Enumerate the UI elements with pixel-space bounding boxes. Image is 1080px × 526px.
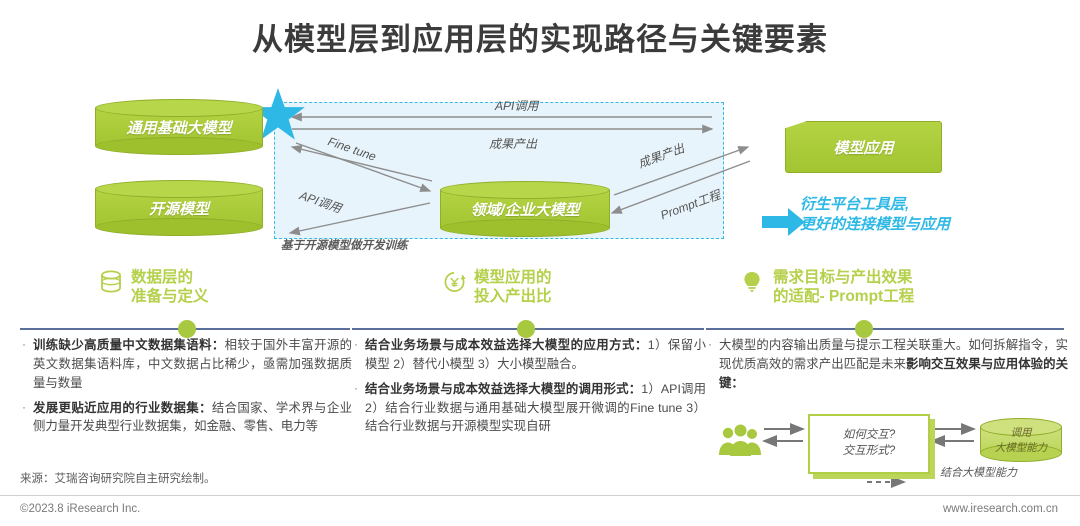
bullet-marker: · xyxy=(708,336,712,393)
list-item-text: 结合业务场景与成本效益选择大模型的应用方式：1）保留小模型 2）替代小模型 3）… xyxy=(365,336,706,374)
list-item-text: 训练缺少高质量中文数据集语料：相较于国外丰富开源的英文数据集语料库，中文数据占比… xyxy=(33,336,352,393)
bullet-marker: · xyxy=(22,336,26,393)
website-link[interactable]: www.iresearch.com.cn xyxy=(943,503,1058,515)
footer-divider xyxy=(0,495,1080,496)
list-item-bold: 训练缺少高质量中文数据集语料： xyxy=(33,338,225,352)
cylinder-open-source-model[interactable]: 开源模型 xyxy=(95,180,263,236)
column-header-data-layer: 数据层的 准备与定义 xyxy=(100,268,209,307)
list-item: · 结合业务场景与成本效益选择大模型的应用方式：1）保留小模型 2）替代小模型 … xyxy=(354,336,706,374)
lightbulb-icon xyxy=(742,270,764,294)
list-item: · 结合业务场景与成本效益选择大模型的调用形式：1）API调用 2）结合行业数据… xyxy=(354,380,706,437)
derive-line-2: 更好的连接模型与应用 xyxy=(800,215,1050,235)
bullet-marker: · xyxy=(354,336,358,374)
cylinder-open-source-model-label: 开源模型 xyxy=(95,180,263,236)
diagram-stage: 通用基础大模型 开源模型 领域/企业大模型 模型应用 衍生平台工具层, 更好的连… xyxy=(0,85,1080,265)
arrow-label-api-call-top: API调用 xyxy=(495,97,538,114)
column-header-cost-benefit: 模型应用的 投入产出比 xyxy=(443,268,552,307)
column-header-label: 数据层的 准备与定义 xyxy=(131,268,209,307)
arrow-label-result-output-top: 成果产出 xyxy=(489,135,537,152)
derive-line-1: 衍生平台工具层, xyxy=(800,195,1050,215)
list-item-bold: 结合业务场景与成本效益选择大模型的调用形式： xyxy=(365,382,641,396)
slide-page: 从模型层到应用层的实现路径与关键要素 xyxy=(0,0,1080,526)
separator-line xyxy=(706,328,1064,330)
question-line-1: 如何交互? xyxy=(843,428,895,444)
cylinder-domain-model-label: 领域/企业大模型 xyxy=(440,181,610,237)
list-item-text: 结合业务场景与成本效益选择大模型的调用形式：1）API调用 2）结合行业数据与通… xyxy=(365,380,706,437)
cylinder-model-capability-label: 调用 大模型能力 xyxy=(980,418,1062,462)
copyright-text: ©2023.8 iResearch Inc. xyxy=(20,503,140,515)
column-body-data-layer: · 训练缺少高质量中文数据集语料：相较于国外丰富开源的英文数据集语料库，中文数据… xyxy=(22,336,352,442)
list-item-text: 发展更贴近应用的行业数据集：结合国家、学术界与企业侧力量开发典型行业数据集，如金… xyxy=(33,399,352,437)
cylinder-base-model-label: 通用基础大模型 xyxy=(95,99,263,155)
interaction-mini-diagram: 如何交互? 交互形式? 调用 大模型能力 结合大模型能力 xyxy=(718,412,1068,484)
list-item-bold: 发展更贴近应用的行业数据集： xyxy=(33,401,212,415)
database-icon xyxy=(100,270,122,294)
diagram-note: 基于开源模型做开发训练 xyxy=(281,237,408,253)
cylinder-domain-model[interactable]: 领域/企业大模型 xyxy=(440,181,610,237)
list-item-text: 大模型的内容输出质量与提示工程关联重大。如何拆解指令，实现优质高效的需求产出匹配… xyxy=(719,336,1068,393)
cylinder-label-line-1: 调用 xyxy=(1011,425,1032,440)
cost-benefit-icon xyxy=(443,270,465,294)
source-note: 来源：艾瑞咨询研究院自主研究绘制。 xyxy=(20,470,216,486)
column-header-label: 需求目标与产出效果 的适配- Prompt工程 xyxy=(773,268,914,307)
column-header-prompt-engineering: 需求目标与产出效果 的适配- Prompt工程 xyxy=(742,268,914,307)
list-item: · 训练缺少高质量中文数据集语料：相较于国外丰富开源的英文数据集语料库，中文数据… xyxy=(22,336,352,393)
column-body-prompt-engineering: · 大模型的内容输出质量与提示工程关联重大。如何拆解指令，实现优质高效的需求产出… xyxy=(708,336,1068,399)
question-line-2: 交互形式? xyxy=(843,444,895,460)
cylinder-label-line-2: 大模型能力 xyxy=(995,440,1048,455)
bullet-marker: · xyxy=(22,399,26,437)
bullet-marker: · xyxy=(354,380,358,437)
model-application-box[interactable]: 模型应用 xyxy=(785,121,942,173)
page-title: 从模型层到应用层的实现路径与关键要素 xyxy=(0,14,1080,59)
list-item: · 大模型的内容输出质量与提示工程关联重大。如何拆解指令，实现优质高效的需求产出… xyxy=(708,336,1068,393)
model-application-label: 模型应用 xyxy=(833,137,893,158)
column-body-cost-benefit: · 结合业务场景与成本效益选择大模型的应用方式：1）保留小模型 2）替代小模型 … xyxy=(354,336,706,442)
list-item: · 发展更贴近应用的行业数据集：结合国家、学术界与企业侧力量开发典型行业数据集，… xyxy=(22,399,352,437)
derive-platform-text: 衍生平台工具层, 更好的连接模型与应用 xyxy=(800,195,1050,236)
cylinder-base-model[interactable]: 通用基础大模型 xyxy=(95,99,263,155)
list-item-bold: 结合业务场景与成本效益选择大模型的应用方式： xyxy=(365,338,648,352)
column-header-label: 模型应用的 投入产出比 xyxy=(474,268,552,307)
cylinder-model-capability[interactable]: 调用 大模型能力 xyxy=(980,418,1062,462)
interaction-question-box[interactable]: 如何交互? 交互形式? xyxy=(808,414,930,474)
mini-diagram-caption: 结合大模型能力 xyxy=(940,464,1017,480)
